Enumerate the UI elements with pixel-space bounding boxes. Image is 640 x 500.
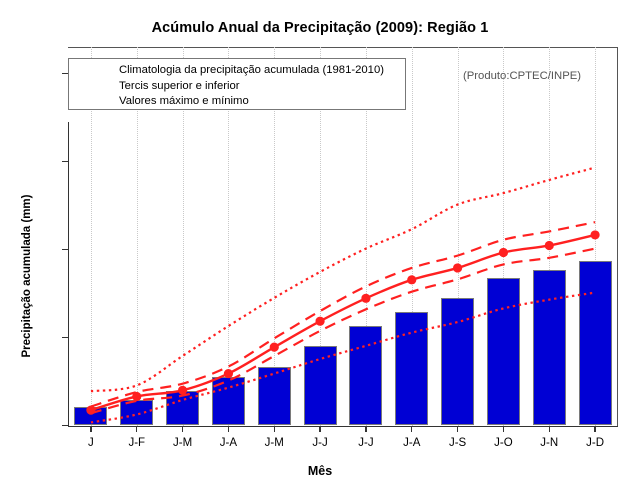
- x-tick-mark: [457, 426, 458, 432]
- y-axis-title: Precipitação acumulada (mm): [21, 146, 33, 406]
- bar: [212, 377, 245, 426]
- x-tick-mark: [182, 426, 183, 432]
- x-tick-mark: [549, 426, 550, 432]
- bar: [441, 298, 474, 425]
- x-tick-mark: [319, 426, 320, 432]
- x-axis-title: Mês: [0, 464, 640, 478]
- plot-frame-top: [68, 47, 618, 48]
- x-axis-line: [68, 426, 618, 427]
- y-tick-mark: [62, 425, 68, 426]
- chart-canvas: Acúmulo Anual da Precipitação (2009): Re…: [0, 0, 640, 500]
- bar: [74, 407, 107, 425]
- bar: [533, 270, 566, 425]
- bar: [579, 261, 612, 425]
- bar: [166, 391, 199, 425]
- legend-label: Climatologia da precipitação acumulada (…: [119, 64, 384, 76]
- x-tick-mark: [274, 426, 275, 432]
- legend-label: Tercis superior e inferior: [119, 80, 240, 92]
- x-tick-mark: [228, 426, 229, 432]
- y-axis-line: [68, 122, 69, 427]
- y-tick-mark: [62, 161, 68, 162]
- producer-annotation: (Produto:CPTEC/INPE): [463, 70, 581, 82]
- bar: [120, 400, 153, 426]
- chart-title: Acúmulo Anual da Precipitação (2009): Re…: [0, 20, 640, 36]
- y-tick-mark: [62, 337, 68, 338]
- bar: [487, 278, 520, 425]
- x-tick-mark: [365, 426, 366, 432]
- x-tick-label: J-D: [565, 437, 625, 449]
- x-tick-mark: [411, 426, 412, 432]
- y-tick-mark: [62, 249, 68, 250]
- x-tick-mark: [594, 426, 595, 432]
- x-tick-mark: [136, 426, 137, 432]
- bar: [304, 346, 337, 425]
- bar: [258, 367, 291, 426]
- bar: [349, 326, 382, 425]
- plot-frame-right: [617, 47, 618, 426]
- legend-label: Valores máximo e mínimo: [119, 95, 249, 107]
- x-tick-mark: [503, 426, 504, 432]
- bar: [395, 312, 428, 426]
- legend: Climatologia da precipitação acumulada (…: [68, 58, 406, 110]
- x-tick-mark: [90, 426, 91, 432]
